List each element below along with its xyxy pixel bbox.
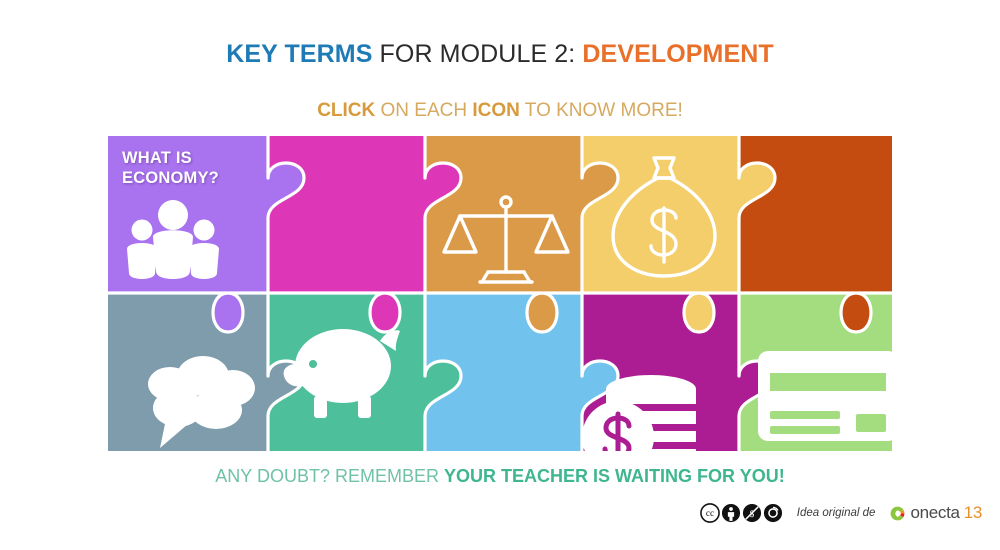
title-development: DEVELOPMENT — [582, 40, 773, 68]
conecta-c-mark-icon — [889, 505, 906, 522]
subtitle-icon: ICON — [472, 100, 520, 121]
puzzle-graphic — [108, 136, 892, 451]
by-person-icon[interactable] — [721, 503, 741, 523]
credit-card-icon[interactable] — [758, 351, 892, 441]
slide-root: KEY TERMS FOR MODULE 2: DEVELOPMENT CLIC… — [0, 0, 1000, 550]
conecta-wordmark: onecta — [910, 503, 959, 523]
page-title: KEY TERMS FOR MODULE 2: DEVELOPMENT — [0, 40, 1000, 69]
footer-note: ANY DOUBT? REMEMBER YOUR TEACHER IS WAIT… — [0, 466, 1000, 487]
footer-note-lead: ANY DOUBT? REMEMBER — [215, 466, 444, 486]
svg-text:cc: cc — [706, 509, 714, 519]
conecta13-logo[interactable]: onecta 13 — [889, 503, 982, 523]
title-middle: FOR MODULE 2: — [373, 40, 583, 68]
creative-commons-license[interactable]: cc $ — [700, 503, 783, 523]
cc-icon[interactable]: cc — [700, 503, 720, 523]
title-key-terms: KEY TERMS — [226, 40, 372, 68]
conecta-number: 13 — [964, 503, 982, 523]
subtitle-click: CLICK — [317, 100, 375, 121]
sa-share-alike-icon[interactable] — [763, 503, 783, 523]
idea-credit-text: Idea original de — [797, 507, 876, 519]
subtitle-tail: TO KNOW MORE! — [520, 100, 683, 121]
piggy-bank-eye — [309, 360, 317, 368]
subtitle-on-each: ON EACH — [375, 100, 472, 121]
footer-note-emphasis: YOUR TEACHER IS WAITING FOR YOU! — [444, 466, 785, 486]
puzzle-board: WHAT IS ECONOMY? — [108, 136, 892, 451]
credits-bar: cc $ Idea original de — [700, 503, 982, 523]
instruction-subtitle: CLICK ON EACH ICON TO KNOW MORE! — [0, 100, 1000, 122]
nc-no-money-icon[interactable]: $ — [742, 503, 762, 523]
